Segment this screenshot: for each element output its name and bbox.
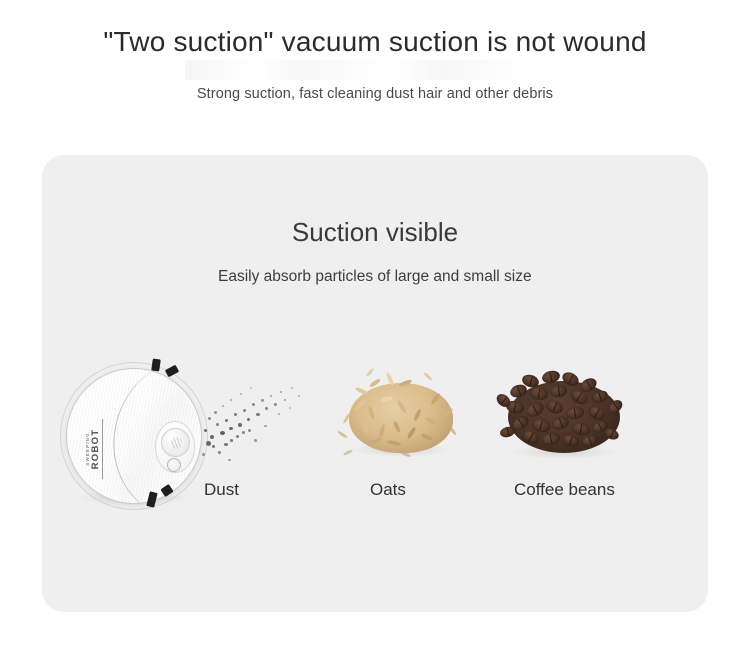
dust-particle: [238, 423, 242, 427]
dust-particle: [202, 453, 205, 456]
dust-particle: [278, 413, 280, 415]
card-description: Easily absorb particles of large and sma…: [218, 268, 558, 286]
label-dust: Dust: [204, 480, 239, 500]
robot-power-button: [167, 458, 181, 472]
dust-particle: [248, 429, 251, 432]
dust-particle: [261, 399, 264, 402]
robot-sensor-cluster: [155, 421, 195, 473]
dust-particle: [280, 391, 282, 393]
dust-pile-image: [194, 373, 314, 478]
dust-particle: [216, 423, 219, 426]
dust-particle: [256, 413, 260, 416]
dust-particle: [204, 429, 207, 432]
label-coffee-beans: Coffee beans: [514, 480, 615, 500]
robot-brand-text: SWEEPING ROBOT: [85, 419, 103, 479]
dust-particle: [214, 411, 217, 414]
dust-particle: [274, 403, 277, 406]
dust-particle: [252, 403, 255, 406]
robot-lidar-icon: [161, 428, 190, 457]
dust-particle: [220, 431, 225, 435]
robot-body: SWEEPING ROBOT: [66, 368, 202, 504]
coffee-beans-image: [492, 367, 632, 475]
dust-particle: [254, 439, 257, 442]
suction-demo-card: Suction visible Easily absorb particles …: [42, 155, 708, 612]
dust-particle: [270, 395, 272, 397]
dust-particle: [240, 393, 242, 395]
page-subtitle: Strong suction, fast cleaning dust hair …: [0, 86, 750, 102]
dust-particle: [206, 441, 211, 446]
dust-particle: [225, 419, 228, 422]
debris-chunk: [151, 359, 161, 372]
dust-particle: [230, 439, 233, 442]
dust-particle: [230, 399, 232, 401]
dust-particle: [218, 451, 221, 454]
oat-grain: [337, 430, 348, 439]
dust-particle: [250, 387, 252, 389]
dust-particle: [284, 399, 286, 401]
oat-grain: [366, 368, 375, 378]
dust-particle: [210, 435, 214, 439]
dust-particle: [265, 407, 268, 410]
dust-particle: [243, 409, 246, 412]
dust-particle: [229, 427, 233, 430]
brand-robot-label: ROBOT: [90, 419, 103, 479]
watermark-overlay: [185, 60, 575, 80]
dust-particle: [222, 405, 224, 407]
coffee-bean: [499, 425, 516, 438]
dust-particle: [289, 407, 291, 409]
dust-particle: [212, 445, 215, 448]
page-title: "Two suction" vacuum suction is not woun…: [0, 26, 750, 58]
dust-particle: [224, 443, 228, 446]
dust-particle: [234, 413, 237, 416]
label-oats: Oats: [370, 480, 406, 500]
dust-particle: [242, 431, 245, 434]
product-feature-page: "Two suction" vacuum suction is not woun…: [0, 0, 750, 654]
dust-particle: [264, 425, 267, 427]
dust-particle: [298, 395, 300, 397]
oat-grain: [343, 449, 353, 456]
dust-particle: [291, 387, 293, 389]
dust-particle: [228, 459, 231, 461]
oats-pile-image: [335, 367, 465, 477]
robot-vacuum-image: SWEEPING ROBOT: [60, 362, 210, 512]
dust-particle: [247, 418, 250, 421]
dust-particle: [236, 435, 239, 438]
oat-grain: [423, 372, 432, 381]
card-title: Suction visible: [42, 217, 708, 248]
dust-particle: [208, 417, 211, 420]
